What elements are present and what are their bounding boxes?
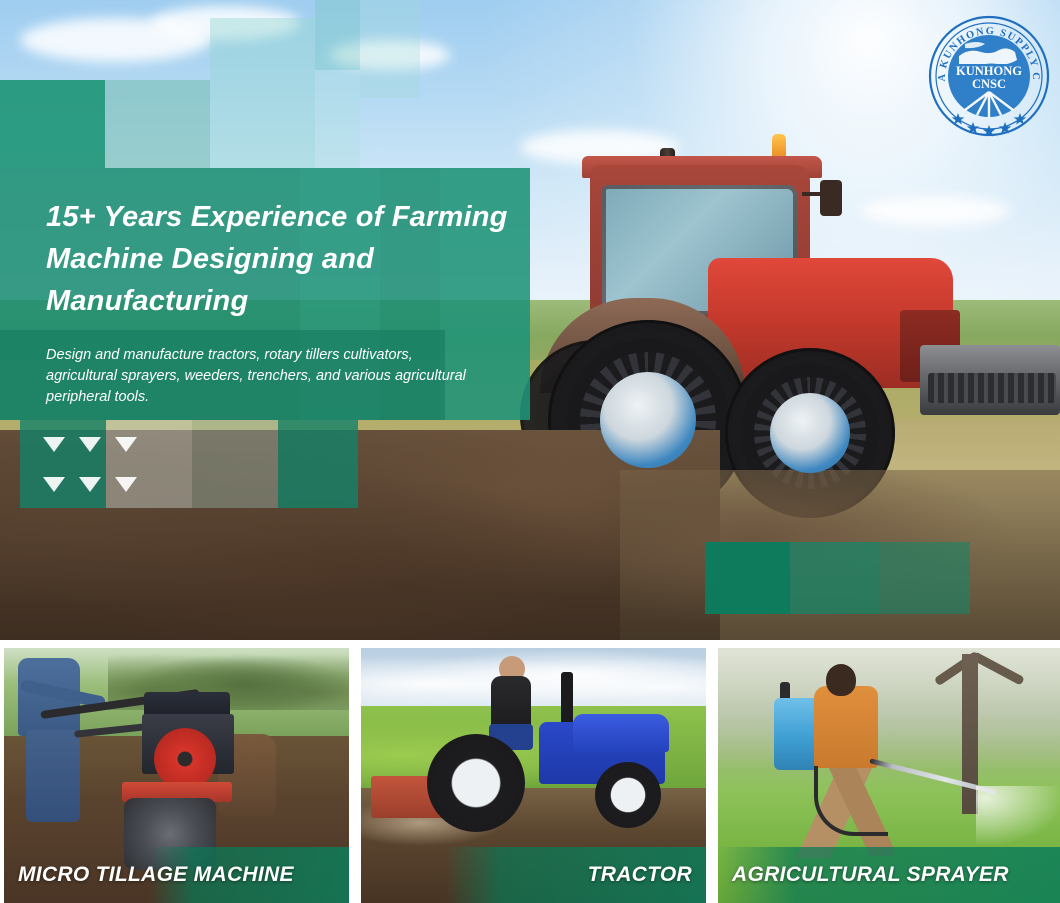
tractor-front-implement	[920, 345, 1060, 415]
tractor-hood	[573, 714, 669, 752]
tractor-mirror	[820, 180, 842, 216]
tractor-front-wheel	[595, 762, 661, 828]
operator-legs	[26, 730, 80, 822]
product-card-micro-tillage-machine[interactable]: MICRO TILLAGE MACHINE	[4, 648, 349, 903]
mosaic-tile	[210, 18, 315, 168]
mosaic-tile	[315, 0, 360, 70]
tractor-rear-wheel	[427, 734, 525, 832]
hero-headline: 15+ Years Experience of Farming Machine …	[46, 196, 516, 322]
product-card-tractor[interactable]: TRACTOR	[361, 648, 706, 903]
driver-torso	[491, 676, 531, 730]
card-sky	[361, 648, 706, 708]
triangle-backdrop-tile	[192, 420, 278, 508]
mosaic-tile	[105, 80, 210, 168]
triangle-down-icon	[43, 477, 65, 492]
tractor-exhaust-stack	[561, 672, 573, 726]
logo-brand-line2: CNSC	[972, 77, 1006, 91]
mosaic-tile	[360, 0, 420, 98]
corner-deco-block	[790, 542, 880, 614]
hero-subcopy: Design and manufacture tractors, rotary …	[46, 345, 466, 408]
triangle-down-icon	[79, 437, 101, 452]
spray-mist	[976, 786, 1060, 848]
promo-banner: 15+ Years Experience of Farming Machine …	[0, 0, 1060, 903]
sprayer-operator-torso	[814, 686, 878, 768]
triangle-down-icon	[43, 437, 65, 452]
company-logo: KUNHONG CNSC	[925, 12, 1053, 140]
sprayer-operator-head	[826, 664, 856, 696]
corner-deco-block	[880, 542, 970, 614]
card-caption-agricultural-sprayer: AGRICULTURAL SPRAYER	[718, 847, 1060, 903]
triangle-down-icon	[79, 477, 101, 492]
card-caption-micro-tillage-machine: MICRO TILLAGE MACHINE	[4, 847, 349, 903]
hero-section: 15+ Years Experience of Farming Machine …	[0, 0, 1060, 640]
triangle-down-icon	[115, 477, 137, 492]
tiller-flywheel	[154, 728, 216, 790]
mosaic-tile	[315, 70, 360, 168]
logo-brand-line1: KUNHONG	[956, 64, 1022, 78]
product-card-row: MICRO TILLAGE MACHINE TRACTOR	[0, 640, 1060, 903]
mosaic-tile	[0, 80, 105, 168]
triangle-backdrop-tile	[278, 420, 358, 508]
triangle-decoration-grid	[36, 424, 144, 504]
triangle-down-icon	[115, 437, 137, 452]
product-card-agricultural-sprayer[interactable]: AGRICULTURAL SPRAYER	[718, 648, 1060, 903]
card-haze	[718, 648, 1060, 768]
corner-deco-block	[705, 542, 790, 614]
card-caption-tractor: TRACTOR	[361, 847, 706, 903]
